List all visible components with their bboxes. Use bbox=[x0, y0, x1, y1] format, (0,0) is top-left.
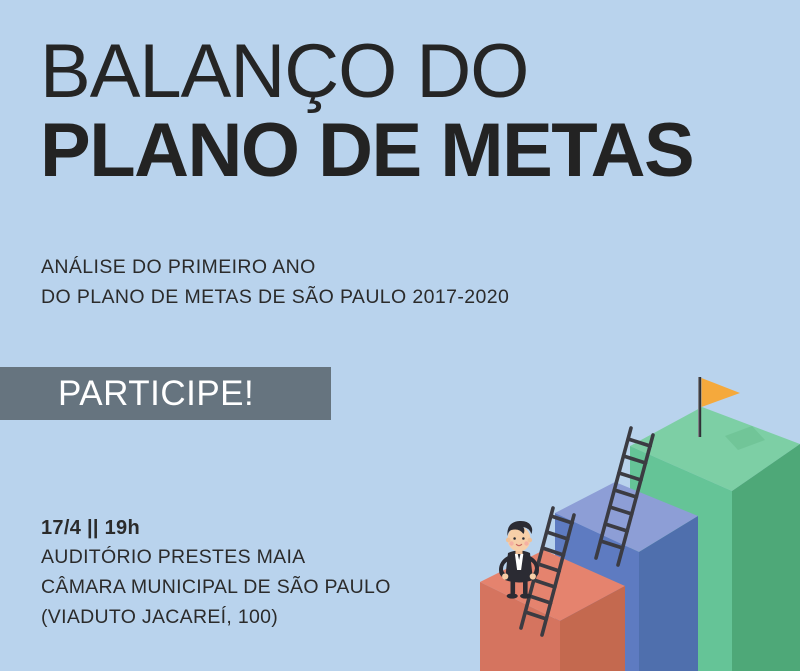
participe-banner: PARTICIPE! bbox=[0, 367, 331, 420]
participe-label: PARTICIPE! bbox=[58, 376, 254, 411]
subtitle-line-2: DO PLANO DE METAS DE SÃO PAULO 2017-2020 bbox=[41, 282, 509, 312]
poster-subtitle: ANÁLISE DO PRIMEIRO ANO DO PLANO DE META… bbox=[41, 252, 509, 312]
event-datetime: 17/4 || 19h bbox=[41, 513, 391, 543]
title-line-2: PLANO DE METAS bbox=[40, 113, 780, 189]
title-line-1: BALANÇO DO bbox=[40, 36, 780, 109]
subtitle-line-1: ANÁLISE DO PRIMEIRO ANO bbox=[41, 252, 509, 282]
poster-canvas: BALANÇO DO PLANO DE METAS ANÁLISE DO PRI… bbox=[0, 0, 800, 671]
poster-title: BALANÇO DO PLANO DE METAS bbox=[40, 36, 780, 189]
illustration-growth-bars bbox=[470, 360, 800, 671]
event-venue: AUDITÓRIO PRESTES MAIA bbox=[41, 543, 391, 573]
event-address: (VIADUTO JACAREÍ, 100) bbox=[41, 603, 391, 633]
event-details: 17/4 || 19h AUDITÓRIO PRESTES MAIA CÂMAR… bbox=[41, 513, 391, 632]
event-institution: CÂMARA MUNICIPAL DE SÃO PAULO bbox=[41, 573, 391, 603]
